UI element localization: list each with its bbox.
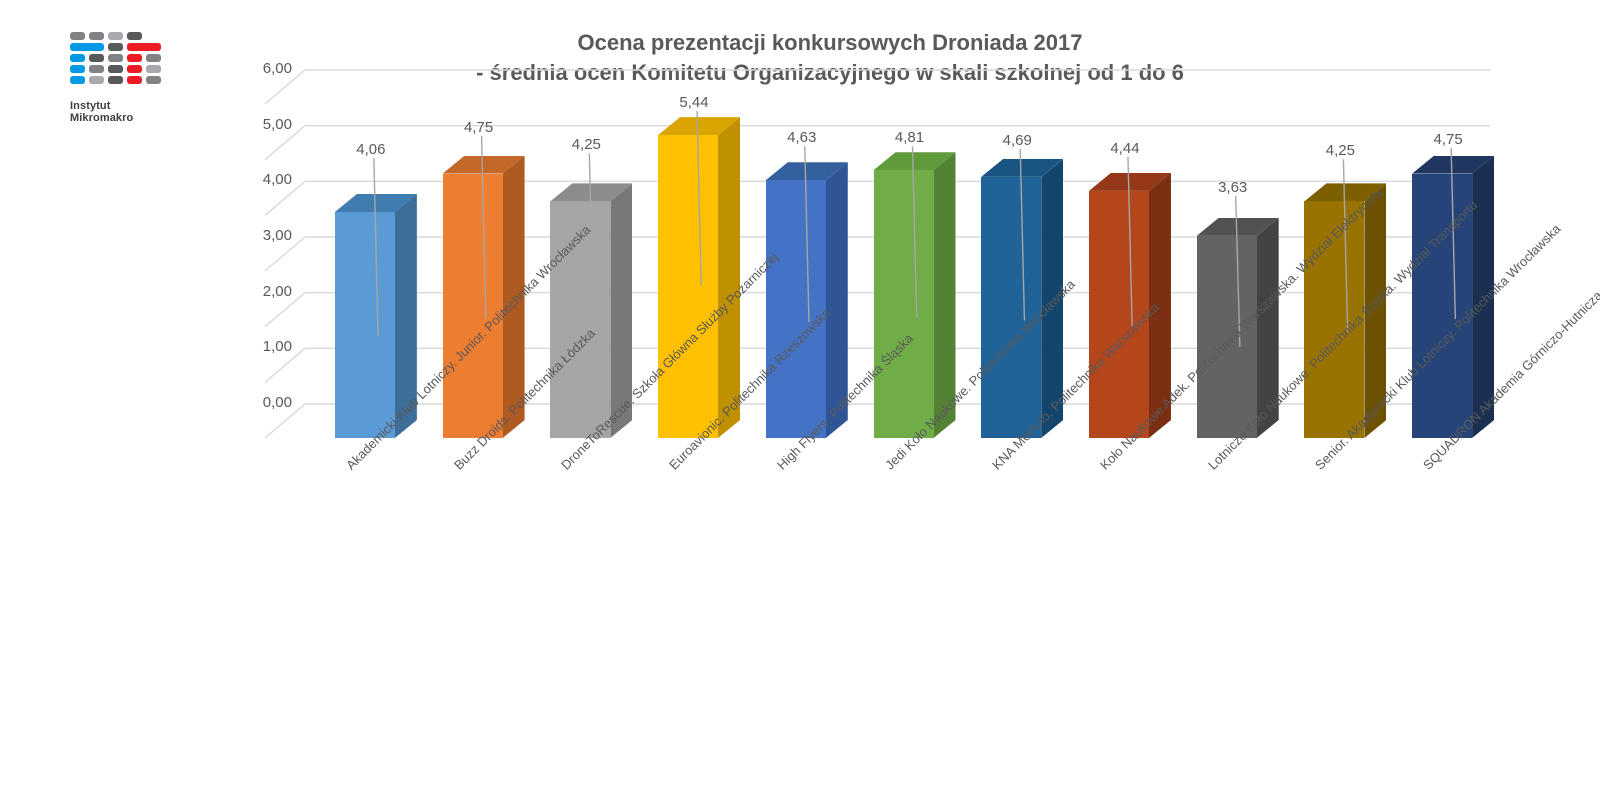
bar-front-face [874, 170, 934, 438]
logo-cell [127, 54, 142, 62]
data-label: 4,81 [870, 129, 950, 146]
bar-front-face [443, 174, 503, 438]
logo-grid [70, 32, 162, 94]
logo-cell [146, 76, 161, 84]
data-label: 4,75 [1408, 131, 1488, 148]
data-label: 4,63 [762, 129, 842, 146]
data-label: 4,75 [439, 119, 519, 136]
bar[interactable] [1089, 0, 1171, 438]
bar[interactable] [874, 0, 956, 438]
y-axis-tick-label: 1,00 [222, 338, 292, 355]
logo-cell [89, 76, 104, 84]
logo-caption: Instytut Mikromakro [70, 100, 172, 124]
data-label: 4,06 [331, 141, 411, 158]
logo-cell [146, 65, 161, 73]
logo-cell [89, 32, 104, 40]
bar-front-face [766, 180, 826, 438]
logo-caption-line1: Instytut [70, 100, 172, 112]
logo-cell [108, 32, 123, 40]
y-axis-tick-label: 4,00 [222, 171, 292, 188]
y-axis-tick-label: 6,00 [222, 60, 292, 77]
y-axis-tick-label: 2,00 [222, 283, 292, 300]
logo-cell [70, 32, 85, 40]
y-axis-tick-label: 0,00 [222, 394, 292, 411]
logo-cell [127, 43, 161, 51]
bar[interactable] [981, 0, 1063, 438]
logo-cell [127, 65, 142, 73]
data-label: 4,44 [1085, 140, 1165, 157]
data-label: 4,25 [1300, 142, 1380, 159]
logo-cell [89, 65, 104, 73]
data-label: 4,25 [546, 136, 626, 153]
logo-cell [70, 65, 85, 73]
bar[interactable] [443, 0, 525, 438]
y-axis-tick-label: 5,00 [222, 116, 292, 133]
logo-cell [89, 54, 104, 62]
data-label: 3,63 [1193, 179, 1273, 196]
instytut-mikromakro-logo: Instytut Mikromakro [62, 32, 172, 137]
bar-front-face [658, 135, 718, 438]
logo-cell [70, 54, 85, 62]
y-axis-tick-label: 3,00 [222, 227, 292, 244]
bar[interactable] [766, 0, 848, 438]
bar[interactable] [1197, 0, 1279, 438]
bar-front-face [981, 177, 1041, 438]
logo-cell [146, 54, 161, 62]
logo-caption-line2: Mikromakro [70, 112, 172, 124]
bar-front-face [335, 212, 395, 438]
bar[interactable] [335, 0, 417, 438]
data-label: 4,69 [977, 132, 1057, 149]
bar[interactable] [550, 0, 632, 438]
bar[interactable] [658, 0, 740, 438]
logo-cell [108, 43, 123, 51]
logo-cell [127, 76, 142, 84]
logo-cell [70, 43, 104, 51]
logo-cell [108, 76, 123, 84]
logo-cell [108, 54, 123, 62]
logo-cell [127, 32, 142, 40]
data-label: 5,44 [654, 94, 734, 111]
logo-cell [108, 65, 123, 73]
chart-root: Instytut Mikromakro Ocena prezentacji ko… [0, 0, 1600, 812]
logo-cell [70, 76, 85, 84]
